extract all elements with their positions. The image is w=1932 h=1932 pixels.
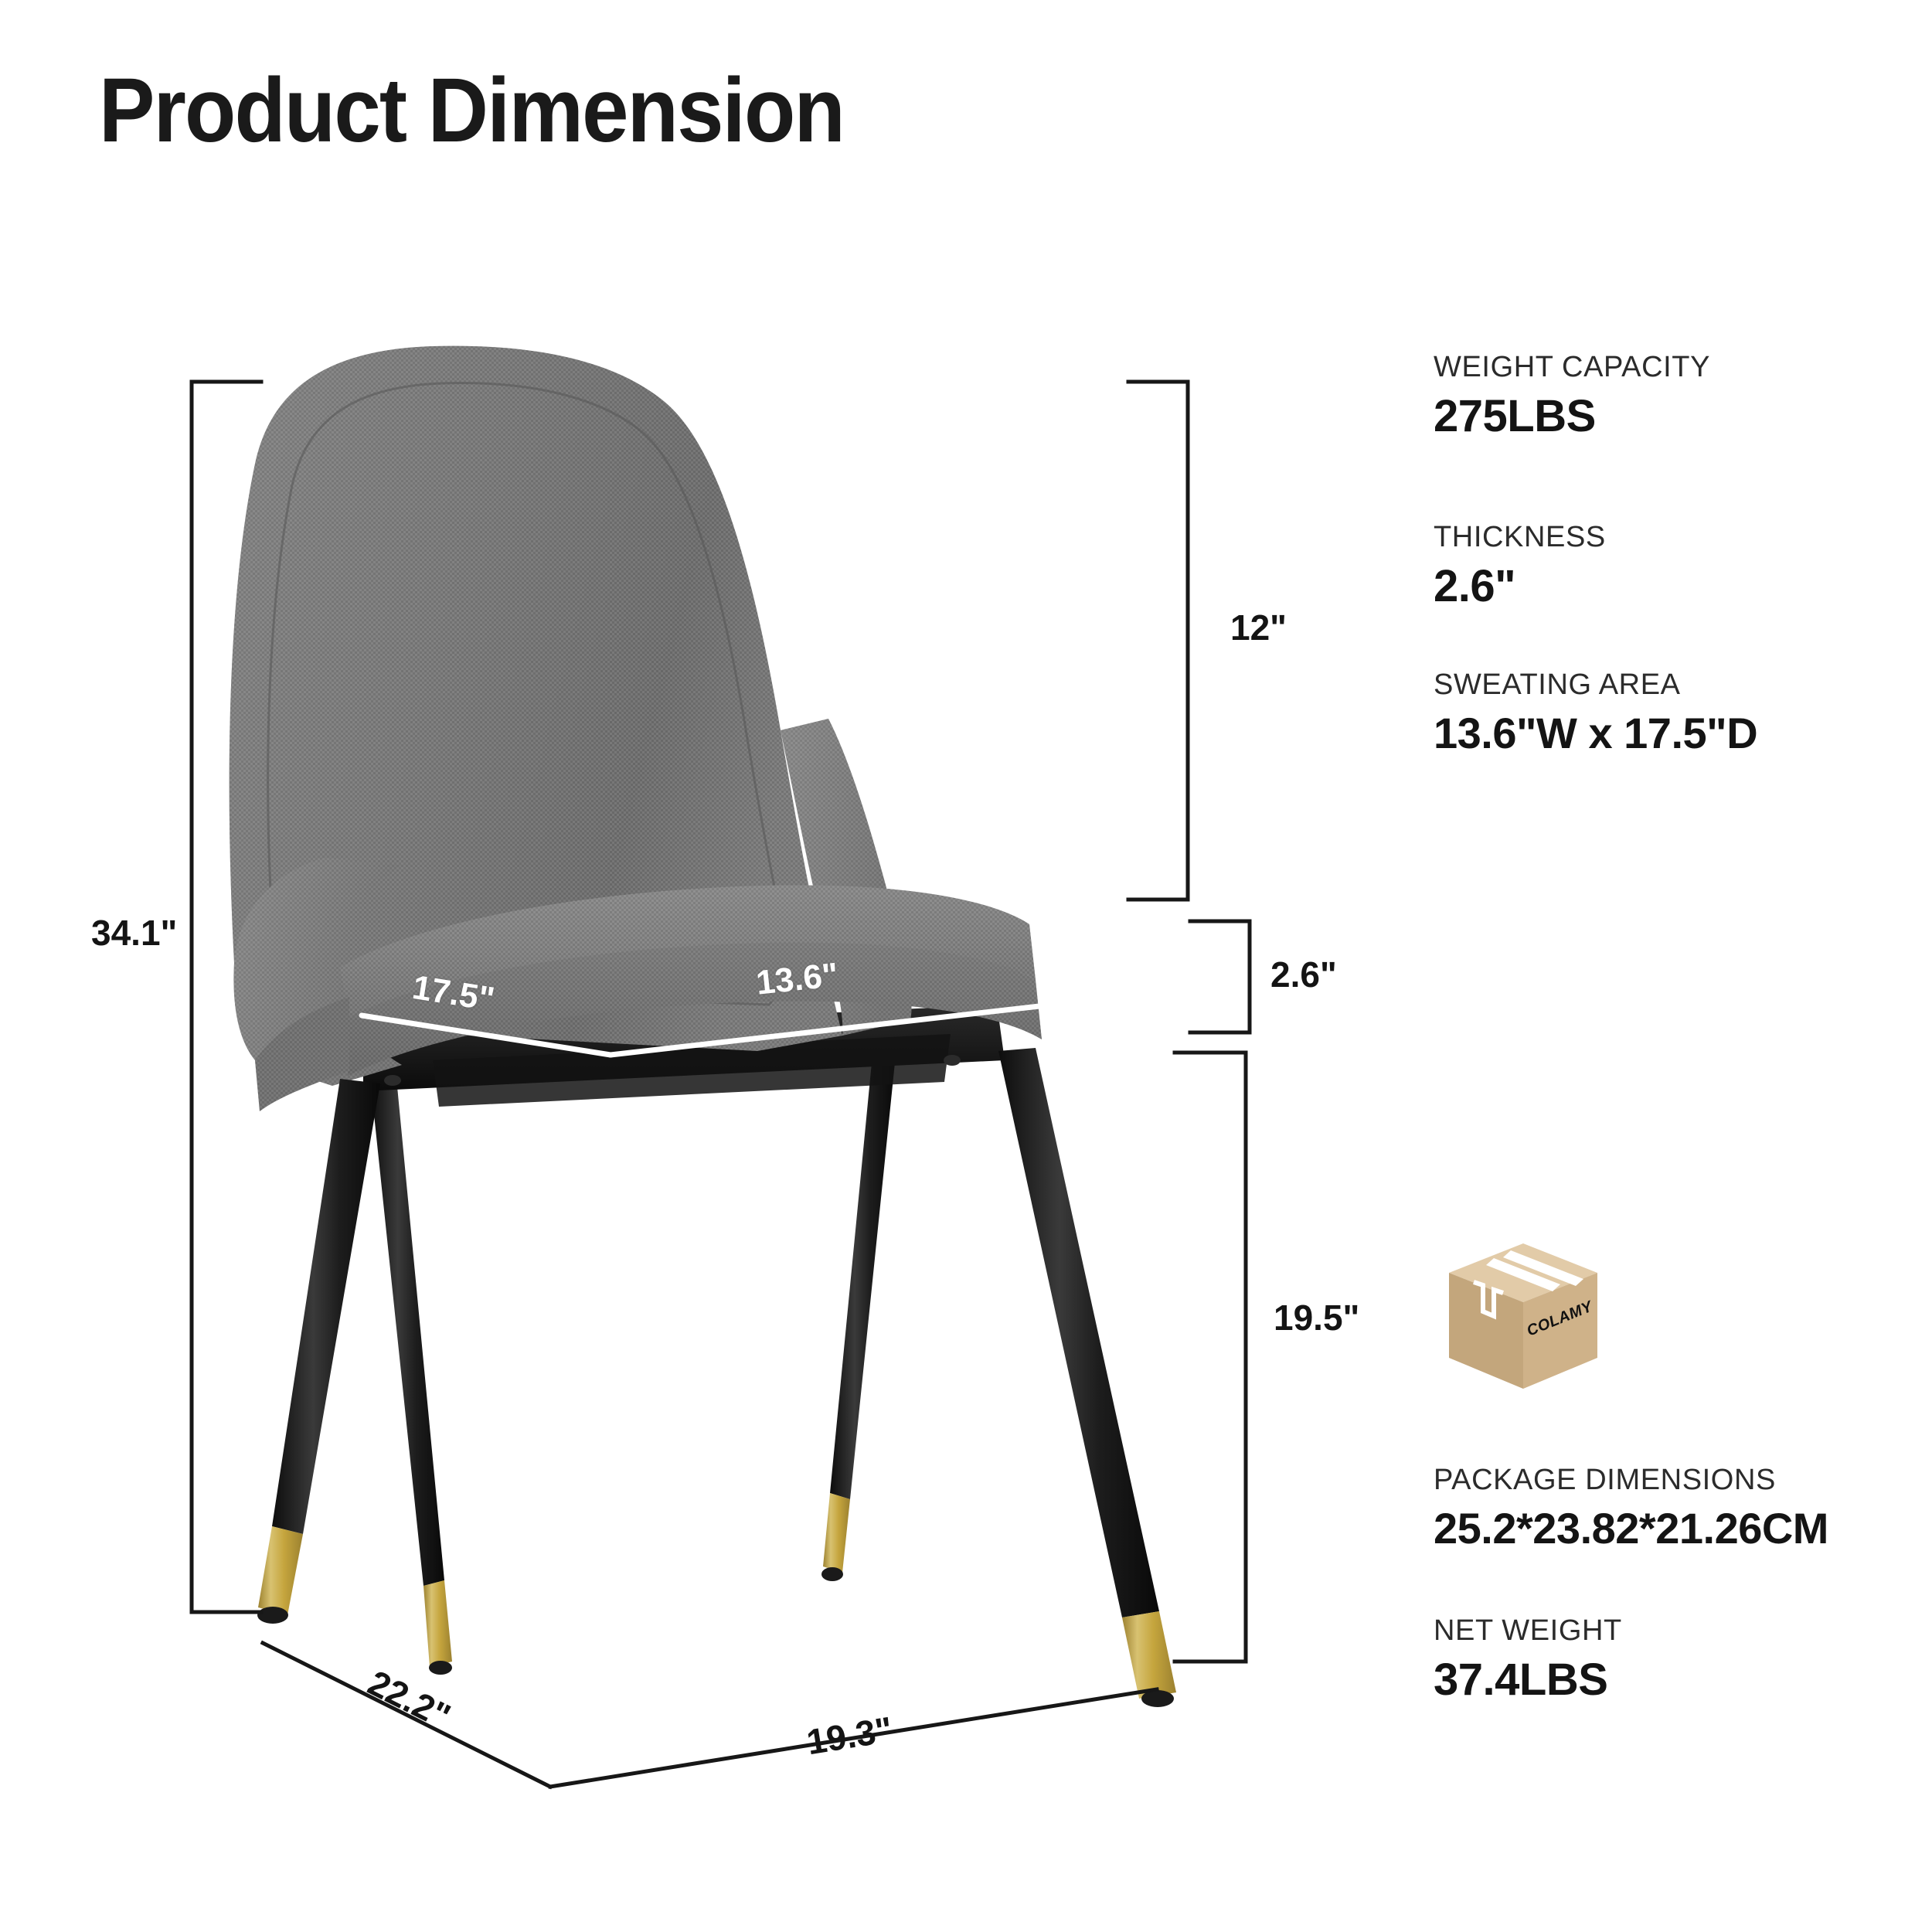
dimension-label-seat-thickness: 2.6" <box>1270 954 1337 995</box>
product-illustration: 34.1" 12" 2.6" 19.5" 22.2" 19.3" 17.5" 1… <box>0 0 1391 1932</box>
spec-thickness-label: THICKNESS <box>1434 522 1913 554</box>
chair-image <box>0 0 1391 1932</box>
spec-sweating-area-value: 13.6"W x 17.5"D <box>1434 711 1913 757</box>
chair-leg-front-right <box>998 1048 1176 1707</box>
spec-sweating-area-label: SWEATING AREA <box>1434 669 1913 702</box>
spec-net-weight: NET WEIGHT 37.4LBS <box>1434 1615 1913 1704</box>
spec-weight-capacity-label: WEIGHT CAPACITY <box>1434 352 1913 384</box>
chair-leg-back-left <box>369 1070 452 1675</box>
dimension-label-backrest-height: 12" <box>1230 607 1287 648</box>
spec-weight-capacity: WEIGHT CAPACITY 275LBS <box>1434 352 1913 440</box>
spec-thickness: THICKNESS 2.6" <box>1434 522 1913 611</box>
spec-sweating-area: SWEATING AREA 13.6"W x 17.5"D <box>1434 669 1913 757</box>
spec-panel: WEIGHT CAPACITY 275LBS THICKNESS 2.6" SW… <box>1434 0 1928 1932</box>
spec-net-weight-label: NET WEIGHT <box>1434 1615 1913 1648</box>
spec-net-weight-value: 37.4LBS <box>1434 1657 1913 1704</box>
dimension-label-overall-height: 34.1" <box>91 912 177 954</box>
dimension-label-seat-height: 19.5" <box>1274 1297 1359 1338</box>
package-box-icon: COLAMY <box>1446 1240 1600 1403</box>
spec-package-dimensions: PACKAGE DIMENSIONS 25.2*23.82*21.26CM <box>1434 1464 1913 1552</box>
chair-leg-front-left <box>257 1079 380 1624</box>
spec-weight-capacity-value: 275LBS <box>1434 393 1913 440</box>
spec-thickness-value: 2.6" <box>1434 563 1913 611</box>
spec-package-dimensions-value: 25.2*23.82*21.26CM <box>1434 1506 1913 1552</box>
chair-leg-back-right <box>821 1063 895 1581</box>
spec-package-dimensions-label: PACKAGE DIMENSIONS <box>1434 1464 1913 1497</box>
